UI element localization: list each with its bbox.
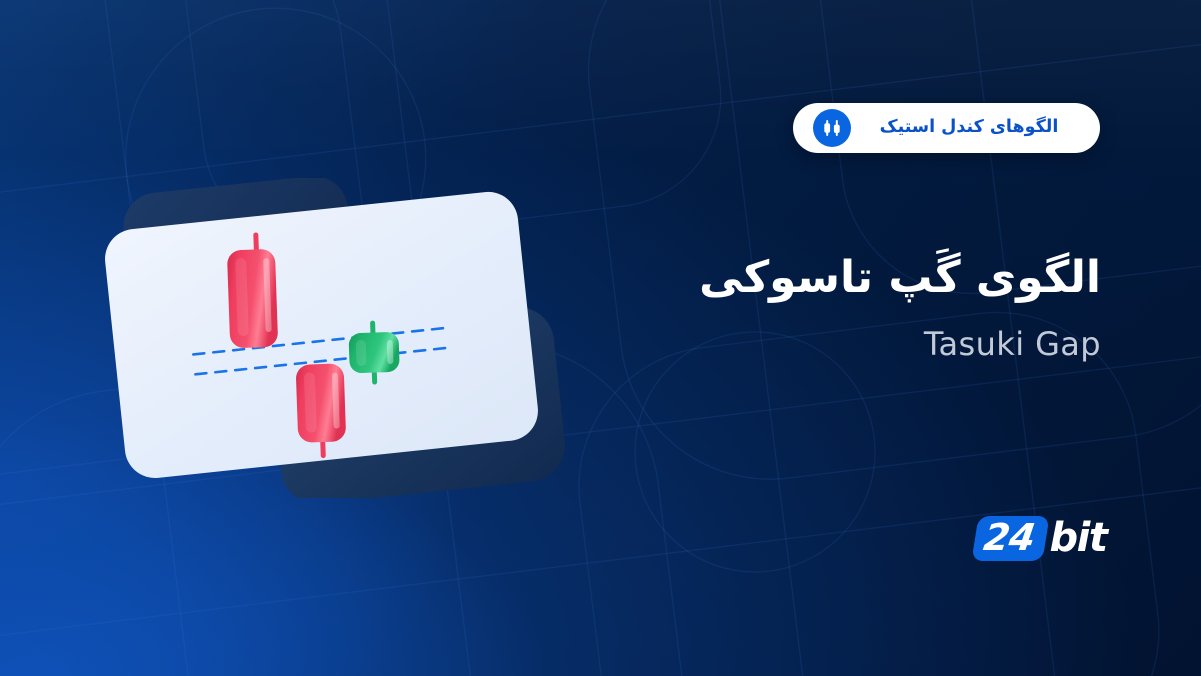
bit24-logo[interactable]: bit 24 — [975, 512, 1106, 564]
banner-stage: الگوهای کندل استیک الگوی گَپ تاسوکی Tasu… — [0, 0, 1201, 676]
logo-number-badge: 24 — [971, 516, 1049, 561]
logo-number-text: 24 — [982, 519, 1038, 556]
candlestick-card-graphic — [100, 178, 570, 498]
tasuki-gap-illustration — [100, 178, 570, 498]
logo-wordmark: bit — [1050, 518, 1107, 558]
page-subtitle: Tasuki Gap — [581, 325, 1101, 363]
page-title: الگوی گَپ تاسوکی — [581, 248, 1101, 307]
candlestick-chart-icon — [813, 109, 851, 147]
category-badge-label: الگوهای کندل استیک — [851, 119, 1093, 137]
heading-block: الگوی گَپ تاسوکی Tasuki Gap — [581, 248, 1101, 363]
category-badge[interactable]: الگوهای کندل استیک — [793, 103, 1100, 153]
